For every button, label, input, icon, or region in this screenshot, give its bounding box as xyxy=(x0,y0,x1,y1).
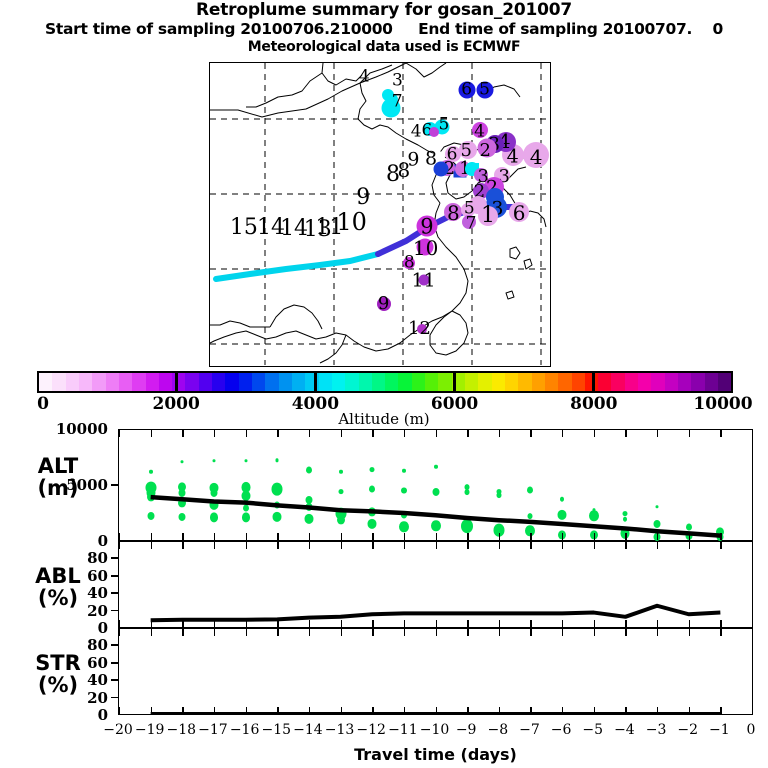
x-tick xyxy=(214,430,215,437)
colorbar-segment xyxy=(398,373,411,391)
map-marker-label: 4 xyxy=(411,123,422,140)
map-marker xyxy=(429,127,439,137)
x-tick xyxy=(246,707,247,714)
x-tick xyxy=(277,629,278,636)
x-tick xyxy=(657,533,658,540)
x-tick xyxy=(277,542,278,549)
colorbar-segment xyxy=(505,373,518,391)
map-marker-label: 15 xyxy=(230,217,258,239)
x-tick xyxy=(499,430,500,437)
colorbar-segment xyxy=(279,373,292,391)
x-tick-label: −13 xyxy=(325,722,355,738)
x-tick xyxy=(657,707,658,714)
colorbar-segment xyxy=(492,373,505,391)
y-tick xyxy=(111,557,118,559)
x-tick xyxy=(214,533,215,540)
map-marker-label: 12 xyxy=(408,320,431,338)
x-tick xyxy=(594,533,595,540)
x-tick xyxy=(151,707,152,714)
str-line xyxy=(119,629,752,714)
colorbar-segment xyxy=(39,373,52,391)
x-tick xyxy=(594,430,595,437)
x-tick xyxy=(689,533,690,540)
x-tick xyxy=(436,707,437,714)
met-data-subtitle: Meteorological data used is ECMWF xyxy=(0,39,768,56)
y-tick-label: 80 xyxy=(0,549,108,567)
altitude-colorbar[interactable] xyxy=(37,371,733,393)
colorbar-segment xyxy=(359,373,372,391)
x-tick xyxy=(752,430,753,437)
colorbar-segment xyxy=(92,373,105,391)
x-tick xyxy=(372,430,373,437)
colorbar-segment xyxy=(598,373,611,391)
x-tick xyxy=(752,620,753,627)
x-tick xyxy=(752,542,753,549)
x-tick-label: −2 xyxy=(677,722,698,738)
colorbar-segment xyxy=(52,373,65,391)
y-tick xyxy=(111,575,118,577)
title-block: Retroplume summary for gosan_201007 Star… xyxy=(0,0,768,56)
x-tick xyxy=(119,542,120,549)
colorbar-segment xyxy=(385,373,398,391)
map-marker-label: 5 xyxy=(438,116,449,133)
x-tick xyxy=(530,542,531,549)
x-tick xyxy=(689,629,690,636)
x-tick xyxy=(594,629,595,636)
y-tick-label: 40 xyxy=(0,584,108,602)
colorbar-segment xyxy=(558,373,571,391)
abl-plot-panel[interactable] xyxy=(118,541,753,628)
x-tick-label: −3 xyxy=(646,722,667,738)
x-tick xyxy=(436,533,437,540)
colorbar-segment xyxy=(478,373,491,391)
x-tick xyxy=(657,620,658,627)
x-tick xyxy=(689,707,690,714)
x-tick-label: −12 xyxy=(356,722,386,738)
colorbar-segment xyxy=(372,373,385,391)
map-marker-label: 2 xyxy=(480,142,491,160)
colorbar-segment xyxy=(705,373,718,391)
x-tick xyxy=(467,533,468,540)
x-tick xyxy=(720,430,721,437)
colorbar-segment xyxy=(252,373,265,391)
alt-mean-line xyxy=(119,430,752,540)
x-tick xyxy=(562,542,563,549)
x-tick xyxy=(467,620,468,627)
x-tick xyxy=(246,620,247,627)
x-tick-label: −6 xyxy=(551,722,572,738)
x-axis-title: Travel time (days) xyxy=(118,745,753,764)
x-tick xyxy=(752,629,753,636)
abl-line xyxy=(119,542,752,627)
x-tick-label: −10 xyxy=(420,722,450,738)
colorbar-segment xyxy=(159,373,172,391)
x-tick-label: −1 xyxy=(709,722,730,738)
colorbar-segment xyxy=(665,373,678,391)
x-tick-label: −18 xyxy=(167,722,197,738)
x-tick xyxy=(119,533,120,540)
x-tick-label: −9 xyxy=(456,722,477,738)
x-tick xyxy=(625,533,626,540)
colorbar-segment xyxy=(438,373,451,391)
x-tick xyxy=(372,707,373,714)
x-tick-label: −8 xyxy=(487,722,508,738)
colorbar-segment xyxy=(146,373,159,391)
colorbar-segment xyxy=(532,373,545,391)
x-tick xyxy=(467,707,468,714)
map-marker-label: 5 xyxy=(479,82,490,99)
y-tick-label: 0 xyxy=(0,619,108,637)
x-tick xyxy=(562,629,563,636)
colorbar-segment xyxy=(518,373,531,391)
x-tick xyxy=(594,542,595,549)
map-marker-label: 6 xyxy=(513,203,526,223)
x-tick xyxy=(562,620,563,627)
x-tick xyxy=(277,620,278,627)
map-marker-label: 9 xyxy=(356,187,370,209)
x-tick xyxy=(372,533,373,540)
x-tick-label: −7 xyxy=(519,722,540,738)
map-marker-label: 9 xyxy=(378,295,389,313)
x-tick xyxy=(214,707,215,714)
y-tick xyxy=(111,610,118,612)
y-tick xyxy=(111,697,118,699)
x-tick xyxy=(182,620,183,627)
colorbar-segment xyxy=(66,373,79,391)
y-tick-label: 40 xyxy=(0,671,108,689)
map-marker-label: 7 xyxy=(392,94,403,111)
map-marker-label: 7 xyxy=(466,215,477,232)
x-tick xyxy=(277,533,278,540)
y-tick xyxy=(111,592,118,594)
colorbar-segment xyxy=(79,373,92,391)
colorbar-segment xyxy=(691,373,704,391)
y-tick-label: 60 xyxy=(0,654,108,672)
x-tick xyxy=(404,620,405,627)
x-tick xyxy=(309,430,310,437)
colorbar-segment xyxy=(345,373,358,391)
x-tick-label: −17 xyxy=(198,722,228,738)
alt-label-line1: ALT xyxy=(8,455,108,477)
x-tick xyxy=(277,430,278,437)
x-tick xyxy=(119,620,120,627)
x-tick-label: 0 xyxy=(747,722,756,738)
colorbar-segment xyxy=(545,373,558,391)
x-tick xyxy=(467,629,468,636)
x-tick-label: −15 xyxy=(261,722,291,738)
x-tick-label: −20 xyxy=(103,722,133,738)
x-tick xyxy=(467,542,468,549)
x-tick xyxy=(182,533,183,540)
x-tick xyxy=(182,542,183,549)
x-tick xyxy=(151,620,152,627)
x-tick xyxy=(119,430,120,437)
x-tick xyxy=(625,542,626,549)
x-tick xyxy=(214,629,215,636)
x-tick xyxy=(530,707,531,714)
y-tick xyxy=(111,484,118,486)
x-tick xyxy=(309,542,310,549)
colorbar-divider xyxy=(314,371,317,393)
colorbar-segment xyxy=(132,373,145,391)
x-tick xyxy=(341,620,342,627)
map-marker-label: 10 xyxy=(413,238,438,258)
page-title: Retroplume summary for gosan_201007 xyxy=(0,0,768,20)
x-tick xyxy=(562,430,563,437)
x-tick xyxy=(151,542,152,549)
x-tick xyxy=(499,620,500,627)
y-tick-label: 10000 xyxy=(0,420,108,438)
alt-plot-panel[interactable] xyxy=(118,429,753,541)
x-tick-label: −14 xyxy=(293,722,323,738)
x-tick xyxy=(309,629,310,636)
sampling-time-subtitle: Start time of sampling 20100706.210000 E… xyxy=(0,20,768,39)
colorbar-segment xyxy=(625,373,638,391)
x-tick xyxy=(594,707,595,714)
y-tick-label: 60 xyxy=(0,567,108,585)
x-tick xyxy=(404,430,405,437)
colorbar-divider xyxy=(175,371,178,393)
x-tick xyxy=(341,707,342,714)
colorbar-segment xyxy=(718,373,731,391)
x-tick xyxy=(720,533,721,540)
x-tick xyxy=(404,629,405,636)
colorbar-segment xyxy=(425,373,438,391)
y-tick-label: 20 xyxy=(0,689,108,707)
x-tick xyxy=(119,707,120,714)
x-tick xyxy=(625,707,626,714)
colorbar-segment xyxy=(212,373,225,391)
map-marker-label: 4 xyxy=(359,68,370,85)
x-tick xyxy=(404,707,405,714)
colorbar-segment xyxy=(332,373,345,391)
x-tick xyxy=(752,533,753,540)
colorbar-segment xyxy=(239,373,252,391)
y-tick xyxy=(111,662,118,664)
x-tick xyxy=(689,620,690,627)
colorbar-segment xyxy=(265,373,278,391)
x-tick xyxy=(499,533,500,540)
y-tick-label: 0 xyxy=(0,706,108,724)
colorbar-segment xyxy=(106,373,119,391)
x-tick xyxy=(372,629,373,636)
colorbar-segment xyxy=(292,373,305,391)
colorbar-segment xyxy=(572,373,585,391)
colorbar-title: Altitude (m) xyxy=(0,410,768,428)
x-tick xyxy=(625,620,626,627)
map-marker-label: 9 xyxy=(420,216,433,237)
x-tick xyxy=(372,542,373,549)
map-marker-label: 8 xyxy=(398,160,411,180)
map-marker-label: 10 xyxy=(336,210,367,234)
x-tick xyxy=(182,629,183,636)
x-tick xyxy=(530,430,531,437)
x-tick xyxy=(246,430,247,437)
colorbar-segment xyxy=(185,373,198,391)
x-tick-label: −4 xyxy=(614,722,635,738)
x-tick-label: −19 xyxy=(135,722,165,738)
y-tick xyxy=(111,644,118,646)
x-tick xyxy=(246,542,247,549)
x-tick xyxy=(151,430,152,437)
x-tick xyxy=(467,430,468,437)
x-tick xyxy=(341,430,342,437)
colorbar-segment xyxy=(678,373,691,391)
x-tick xyxy=(246,533,247,540)
x-tick xyxy=(214,620,215,627)
colorbar-segment xyxy=(119,373,132,391)
x-tick xyxy=(657,542,658,549)
y-tick-label: 0 xyxy=(0,532,108,550)
map-marker-label: 4 xyxy=(474,123,485,140)
x-tick xyxy=(720,707,721,714)
x-tick xyxy=(625,430,626,437)
x-tick xyxy=(720,620,721,627)
map-marker xyxy=(433,162,448,177)
map-marker-label: 8 xyxy=(447,203,460,223)
x-tick xyxy=(404,542,405,549)
x-tick xyxy=(309,620,310,627)
y-tick-label: 80 xyxy=(0,636,108,654)
x-tick xyxy=(499,629,500,636)
colorbar-divider xyxy=(592,371,595,393)
x-tick xyxy=(689,430,690,437)
map-marker-label: 1 xyxy=(481,205,495,227)
map-marker-label: 11 xyxy=(411,272,435,291)
x-tick xyxy=(214,542,215,549)
x-tick xyxy=(562,707,563,714)
x-tick xyxy=(404,533,405,540)
colorbar-segment xyxy=(319,373,332,391)
x-tick xyxy=(530,533,531,540)
x-tick xyxy=(182,707,183,714)
x-tick xyxy=(752,707,753,714)
x-tick xyxy=(309,707,310,714)
trajectory-line-early xyxy=(216,254,378,279)
x-tick xyxy=(341,533,342,540)
x-tick-label: −5 xyxy=(582,722,603,738)
colorbar-segment xyxy=(465,373,478,391)
y-tick xyxy=(111,679,118,681)
x-tick xyxy=(625,629,626,636)
x-tick xyxy=(720,629,721,636)
map-marker-label: 6 xyxy=(461,82,472,99)
x-tick xyxy=(151,533,152,540)
x-tick xyxy=(119,629,120,636)
colorbar-segment xyxy=(651,373,664,391)
x-tick xyxy=(151,629,152,636)
x-tick xyxy=(689,542,690,549)
x-tick xyxy=(530,629,531,636)
x-tick xyxy=(246,629,247,636)
x-tick xyxy=(499,542,500,549)
x-tick xyxy=(436,620,437,627)
colorbar-segment xyxy=(611,373,624,391)
x-tick xyxy=(657,629,658,636)
map-marker-label: 3 xyxy=(392,73,403,90)
colorbar-divider xyxy=(453,371,456,393)
map-marker-label: 4 xyxy=(530,147,543,167)
str-plot-panel[interactable] xyxy=(118,628,753,715)
x-tick xyxy=(309,533,310,540)
x-tick xyxy=(341,629,342,636)
retroplume-map-panel[interactable]: 4376565444443256892133223856179108119121… xyxy=(209,62,551,367)
colorbar-segment xyxy=(412,373,425,391)
x-tick-label: −16 xyxy=(230,722,260,738)
x-tick xyxy=(436,430,437,437)
x-tick xyxy=(436,542,437,549)
x-tick xyxy=(562,533,563,540)
colorbar-segment xyxy=(225,373,238,391)
x-tick xyxy=(499,707,500,714)
colorbar-segment xyxy=(199,373,212,391)
x-tick xyxy=(372,620,373,627)
x-tick xyxy=(182,430,183,437)
y-tick-label: 5000 xyxy=(0,476,108,494)
x-tick xyxy=(594,620,595,627)
x-tick xyxy=(720,542,721,549)
colorbar-segment xyxy=(638,373,651,391)
x-tick xyxy=(530,620,531,627)
x-tick-label: −11 xyxy=(388,722,418,738)
x-tick xyxy=(277,707,278,714)
x-tick xyxy=(657,430,658,437)
x-tick xyxy=(341,542,342,549)
y-tick-label: 20 xyxy=(0,602,108,620)
x-tick xyxy=(436,629,437,636)
